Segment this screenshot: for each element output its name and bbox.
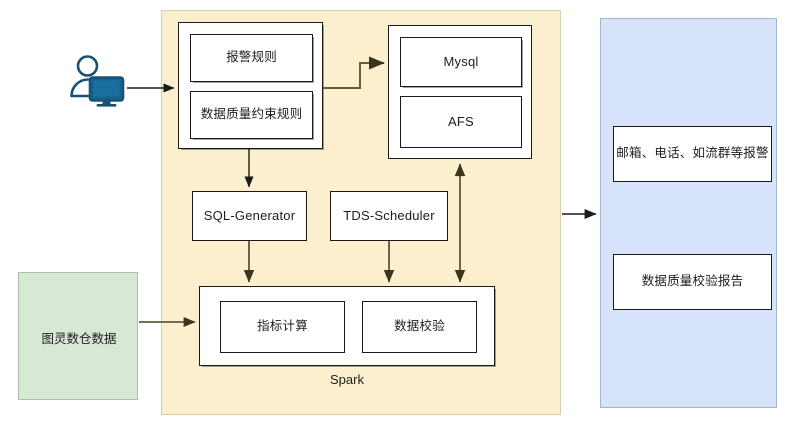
source-data-box: 图灵数仓数据 (18, 272, 138, 400)
quality-report-label: 数据质量校验报告 (642, 274, 744, 290)
metric-calculation-label: 指标计算 (257, 319, 308, 335)
mysql-label: Mysql (444, 54, 479, 70)
alert-rules-label: 报警规则 (226, 50, 277, 66)
alert-channels-box[interactable]: 邮箱、电话、如流群等报警 (613, 126, 772, 182)
afs-label: AFS (448, 114, 474, 130)
outputs-region (600, 18, 777, 408)
afs-box[interactable]: AFS (400, 96, 522, 148)
architecture-diagram: 图灵数仓数据 报警规则 数据质量约束规则 Mysql AFS (0, 0, 794, 425)
mysql-box[interactable]: Mysql (400, 37, 522, 87)
data-validation-label: 数据校验 (394, 319, 445, 335)
alert-channels-label: 邮箱、电话、如流群等报警 (616, 146, 768, 162)
data-validation-box[interactable]: 数据校验 (362, 301, 477, 353)
sql-generator-box[interactable]: SQL-Generator (192, 191, 307, 241)
spark-caption: Spark (199, 370, 495, 388)
storage-group: Mysql AFS (388, 25, 532, 159)
quality-report-box[interactable]: 数据质量校验报告 (613, 254, 772, 310)
metric-calculation-box[interactable]: 指标计算 (220, 301, 345, 353)
source-data-label: 图灵数仓数据 (19, 273, 139, 401)
sql-generator-label: SQL-Generator (204, 208, 295, 224)
alert-rules-box[interactable]: 报警规则 (190, 34, 313, 82)
data-quality-rules-label: 数据质量约束规则 (201, 107, 303, 123)
spark-group: 指标计算 数据校验 (199, 286, 495, 366)
tds-scheduler-box[interactable]: TDS-Scheduler (330, 191, 448, 241)
data-quality-rules-box[interactable]: 数据质量约束规则 (190, 91, 313, 139)
rules-group: 报警规则 数据质量约束规则 (178, 22, 323, 149)
tds-scheduler-label: TDS-Scheduler (343, 208, 434, 224)
user-with-monitor-icon (67, 55, 127, 109)
